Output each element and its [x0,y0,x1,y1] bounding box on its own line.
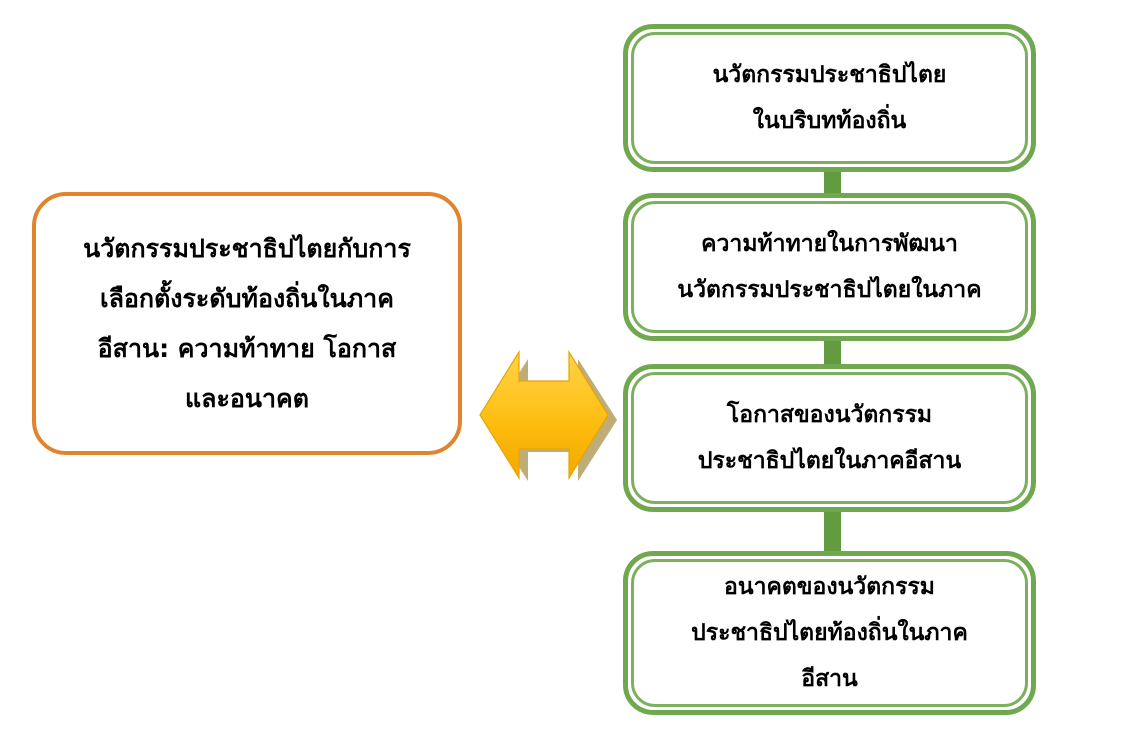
branch-box-2[interactable]: ความท้าทายในการพัฒนา นวัตกรรมประชาธิปไตย… [623,193,1036,341]
branch-box-3[interactable]: โอกาสของนวัตกรรม ประชาธิปไตยในภาคอีสาน [623,364,1036,512]
branch-box-4-label: อนาคตของนวัตกรรม ประชาธิปไตยท้องถิ่นในภา… [660,564,1000,702]
branch-box-1-label: นวัตกรรมประชาธิปไตย ในบริบทท้องถิ่น [660,52,1000,144]
branch-box-4-inner: อนาคตของนวัตกรรม ประชาธิปไตยท้องถิ่นในภา… [631,559,1028,707]
branch-box-3-label: โอกาสของนวัตกรรม ประชาธิปไตยในภาคอีสาน [660,392,1000,484]
double-headed-arrow-icon [472,338,624,492]
link-line-3 [824,508,841,555]
main-topic-box[interactable]: นวัตกรรมประชาธิปไตยกับการ เลือกตั้งระดับ… [32,192,462,455]
branch-box-2-label: ความท้าทายในการพัฒนา นวัตกรรมประชาธิปไตย… [660,221,1000,313]
branch-box-3-inner: โอกาสของนวัตกรรม ประชาธิปไตยในภาคอีสาน [631,372,1028,504]
branch-box-1[interactable]: นวัตกรรมประชาธิปไตย ในบริบทท้องถิ่น [623,24,1036,172]
branch-box-1-inner: นวัตกรรมประชาธิปไตย ในบริบทท้องถิ่น [631,32,1028,164]
main-topic-label: นวัตกรรมประชาธิปไตยกับการ เลือกตั้งระดับ… [72,224,422,424]
diagram-canvas: นวัตกรรมประชาธิปไตยกับการ เลือกตั้งระดับ… [0,0,1145,750]
branch-box-2-inner: ความท้าทายในการพัฒนา นวัตกรรมประชาธิปไตย… [631,201,1028,333]
branch-box-4[interactable]: อนาคตของนวัตกรรม ประชาธิปไตยท้องถิ่นในภา… [623,551,1036,715]
